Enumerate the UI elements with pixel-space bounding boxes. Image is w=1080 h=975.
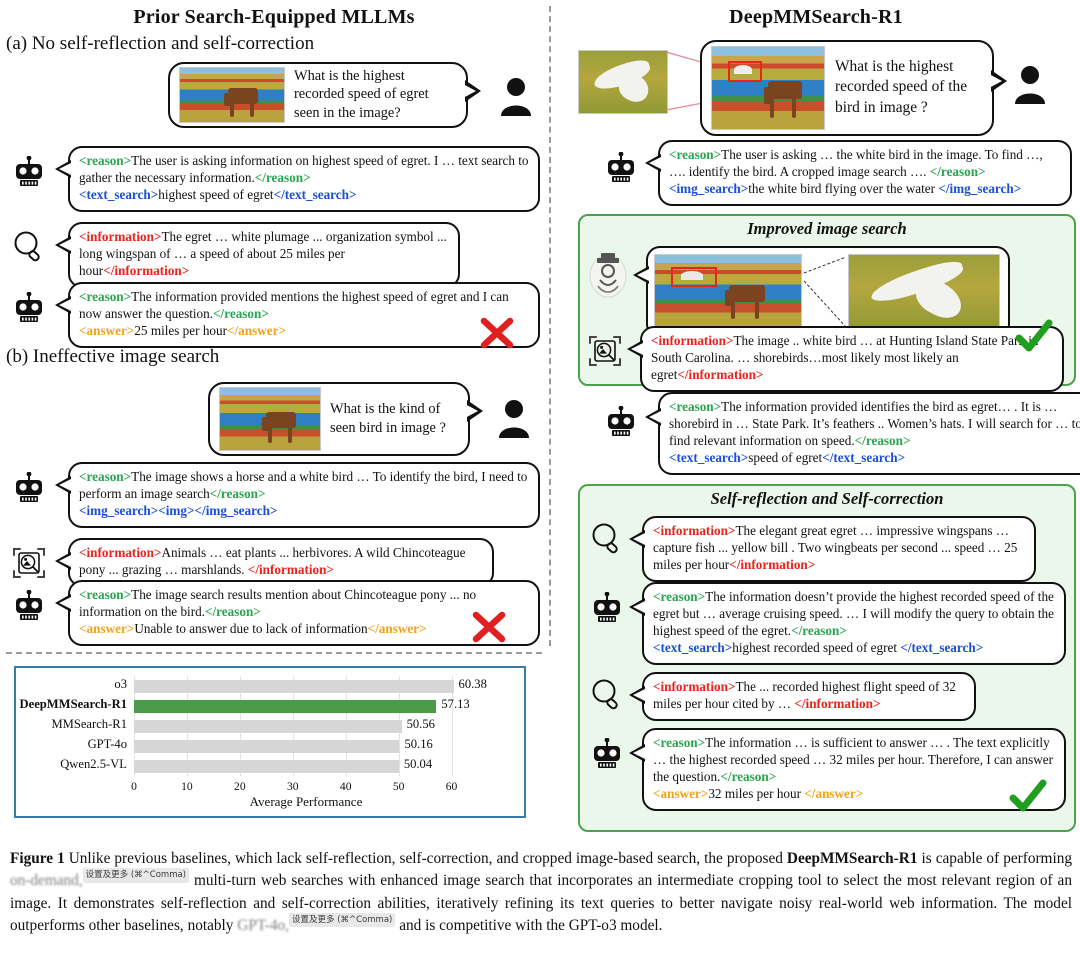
imgsearch-tags: <img_search><img></img_search> [79, 503, 277, 518]
tag-reason-open: <reason> [653, 589, 705, 604]
horizontal-divider [6, 652, 542, 654]
tag-reason-close: </reason> [791, 623, 847, 638]
left-a-user-row: What is the highest recorded speed of eg… [168, 62, 534, 128]
tag-information-close: </information> [103, 263, 189, 278]
tag-reason-close: </reason> [213, 306, 269, 321]
tag-information-close: </information> [677, 367, 763, 382]
source-image-with-crop-box [654, 254, 802, 330]
panel-improved-crop-row [588, 246, 1010, 338]
right-turn-middle-row: <reason>The information provided identif… [604, 392, 1080, 475]
crop-tool-icon [588, 252, 628, 298]
tag-reason-open: <reason> [669, 399, 721, 414]
chart-xtick-label: 30 [287, 780, 299, 793]
bubble-tail-icon [629, 744, 645, 762]
right-turn-first-bubble: <reason>The user is asking … the white b… [658, 140, 1072, 206]
user-question-bubble-b: What is the kind of seen bird in image ? [208, 382, 470, 456]
tag-reason-open: <reason> [79, 587, 131, 602]
tag-information-close: </information> [794, 696, 880, 711]
chart-bar [134, 720, 402, 733]
bubble-tail-icon [465, 80, 481, 102]
robot-icon [590, 738, 624, 772]
tag-reason-close: </reason> [255, 170, 311, 185]
tag-answer-close: </answer> [804, 786, 863, 801]
tag-reason-close: </reason> [210, 486, 266, 501]
zoom-connector-icon [802, 255, 848, 329]
tag-reason-open: <reason> [79, 153, 131, 168]
tag-textsearch-open: <text_search> [669, 450, 748, 465]
caption-part-1: Unlike previous baselines, which lack se… [65, 850, 787, 867]
chart-bar [134, 700, 436, 713]
tag-answer-open: <answer> [79, 323, 134, 338]
tag-answer-open: <answer> [653, 786, 708, 801]
robot-icon [590, 592, 624, 626]
caption-occluded-2: GPT-4o, [237, 915, 289, 937]
tag-reason-open: <reason> [79, 469, 131, 484]
reason-text: The information … is sufficient to answe… [653, 735, 1053, 784]
answer-text: 25 miles per hour [134, 323, 227, 338]
chart-bar-row: Qwen2.5-VL50.04 [134, 760, 478, 773]
marsh-horse-photo-annotated [711, 46, 825, 130]
bubble-tail-icon [55, 296, 71, 314]
panel-improved-image-search: Improved image search [578, 214, 1076, 386]
chart-bar [134, 680, 454, 693]
figure-1: Prior Search-Equipped MLLMs (a) No self-… [0, 0, 1080, 975]
left-a-turn-2-row: <information>The egret … white plumage .… [12, 222, 460, 288]
tag-imgsearch-close: </img_search> [938, 181, 1021, 196]
chart-bar-row: MMSearch-R150.56 [134, 720, 478, 733]
tag-textsearch-open: <text_search> [653, 640, 732, 655]
tag-answer-close: </answer> [368, 621, 427, 636]
user-avatar-icon [498, 76, 534, 116]
user-question-text-b: What is the kind of seen bird in image ? [330, 400, 459, 436]
left-b-turn-1-row: <reason>The image shows a horse and a wh… [12, 462, 540, 528]
left-b-turn-1-bubble: <reason>The image shows a horse and a wh… [68, 462, 540, 528]
bubble-tail-icon [629, 686, 645, 704]
chart-xtick-label: 40 [340, 780, 352, 793]
tag-reason-close: </reason> [720, 769, 776, 784]
tag-reason-open: <reason> [79, 289, 131, 304]
reflect-turn-1-row: <information>The elegant great egret … i… [590, 516, 1036, 582]
image-search-icon [12, 546, 46, 580]
tag-reason-close: </reason> [930, 164, 986, 179]
bubble-tail-icon [645, 408, 661, 426]
chart-value-label: 57.13 [441, 697, 469, 712]
user-question-bubble-right: What is the highest recorded speed of th… [700, 40, 994, 136]
reflect-turn-3-bubble: <information>The ... recorded highest fl… [642, 672, 976, 721]
answer-text: 32 miles per hour [708, 786, 804, 801]
bubble-tail-icon [991, 70, 1007, 92]
chart-category-label: DeepMMSearch-R1 [20, 697, 127, 712]
chart-bar-row: o360.38 [134, 680, 478, 693]
tag-imgsearch-open: <img_search> [669, 181, 748, 196]
tag-information-open: <information> [651, 333, 733, 348]
section-b-heading: (b) Ineffective image search [6, 346, 219, 368]
caption-part-2: is capable of performing [917, 850, 1072, 867]
chart-xtick-label: 50 [393, 780, 405, 793]
right-turn-first-row: <reason>The user is asking … the white b… [604, 140, 1072, 206]
tag-reason-close: </reason> [205, 604, 261, 619]
reason-text: The user is asking … the white bird in t… [669, 147, 1043, 179]
bubble-tail-icon [467, 400, 483, 422]
reflect-turn-4-row: <reason>The information … is sufficient … [590, 728, 1066, 811]
chart-bar [134, 740, 399, 753]
reflect-turn-2-bubble: <reason>The information doesn’t provide … [642, 582, 1066, 665]
correct-check-icon [1014, 318, 1054, 361]
robot-icon [604, 152, 638, 186]
tag-textsearch-close: </text_search> [822, 450, 905, 465]
tag-information-open: <information> [79, 545, 161, 560]
left-b-turn-3-row: <reason>The image search results mention… [12, 580, 540, 646]
marsh-horse-photo [179, 67, 285, 123]
image-search-icon [588, 334, 622, 368]
tag-answer-close: </answer> [227, 323, 286, 338]
chart-category-label: Qwen2.5-VL [60, 757, 127, 772]
marsh-horse-photo [219, 387, 321, 451]
chart-category-label: o3 [114, 677, 127, 692]
tag-information-close: </information> [248, 562, 334, 577]
panel-improved-info-row: <information>The image .. white bird … a… [588, 326, 1064, 392]
chart-bar-row: DeepMMSearch-R157.13 [134, 700, 478, 713]
tag-textsearch-close: </text_search> [900, 640, 983, 655]
bubble-tail-icon [629, 598, 645, 616]
tag-information-close: </information> [729, 557, 815, 572]
caption-label: Figure 1 [10, 850, 65, 867]
chart-value-label: 60.38 [459, 677, 487, 692]
panel-reflect-title: Self-reflection and Self-correction [580, 486, 1074, 509]
bubble-tail-icon [55, 476, 71, 494]
reflect-turn-2-row: <reason>The information doesn’t provide … [590, 582, 1066, 665]
incorrect-cross-icon [470, 608, 508, 651]
robot-icon [12, 156, 46, 190]
textsearch-query: highest speed of egret [158, 187, 273, 202]
magnifier-icon [590, 522, 624, 556]
panel-self-reflection: Self-reflection and Self-correction <inf… [578, 484, 1076, 832]
chart-plot-area: 0102030405060o360.38DeepMMSearch-R157.13… [134, 676, 478, 776]
bubble-tail-icon [55, 552, 71, 570]
chart-bar-row: GPT-4o50.16 [134, 740, 478, 753]
incorrect-cross-icon [478, 314, 516, 357]
tag-textsearch-close: </text_search> [274, 187, 357, 202]
textsearch-query: highest recorded speed of egret [732, 640, 900, 655]
figure-caption: Figure 1 Unlike previous baselines, whic… [10, 848, 1072, 937]
panel-improved-title: Improved image search [580, 216, 1074, 239]
section-a-heading: (a) No self-reflection and self-correcti… [6, 33, 548, 55]
chart-bar [134, 760, 399, 773]
caption-occluded-1: on-demand, [10, 870, 83, 892]
reason-text: The information provided mentions the hi… [79, 289, 509, 321]
answer-text: Unable to answer due to lack of informat… [134, 621, 367, 636]
left-a-turn-3-row: <reason>The information provided mention… [12, 282, 540, 348]
bubble-tail-icon [633, 266, 649, 284]
vertical-divider [549, 6, 551, 646]
panel-improved-info-bubble: <information>The image .. white bird … a… [640, 326, 1064, 392]
left-column-title: Prior Search-Equipped MLLMs [0, 6, 548, 29]
tag-reason-open: <reason> [669, 147, 721, 162]
user-question-text-right: What is the highest recorded speed of th… [835, 57, 983, 117]
user-question-text-a: What is the highest recorded speed of eg… [294, 67, 457, 121]
bubble-tail-icon [55, 594, 71, 612]
tag-reason-close: </reason> [855, 433, 911, 448]
reflect-turn-4-bubble: <reason>The information … is sufficient … [642, 728, 1066, 811]
chart-xaxis-label: Average Performance [134, 794, 478, 810]
tag-reason-open: <reason> [653, 735, 705, 750]
left-a-turn-1-row: <reason>The user is asking information o… [12, 146, 540, 212]
left-a-turn-2-bubble: <information>The egret … white plumage .… [68, 222, 460, 288]
chart-category-label: GPT-4o [88, 737, 127, 752]
chart-xtick-label: 0 [131, 780, 137, 793]
right-column-title: DeepMMSearch-R1 [552, 6, 1080, 29]
bubble-tail-icon [627, 340, 643, 358]
robot-icon [12, 292, 46, 326]
tag-answer-open: <answer> [79, 621, 134, 636]
chart-value-label: 50.56 [407, 717, 435, 732]
chart-value-label: 50.16 [404, 737, 432, 752]
bubble-tail-icon [55, 160, 71, 178]
left-a-turn-3-bubble: <reason>The information provided mention… [68, 282, 540, 348]
reflect-turn-3-row: <information>The ... recorded highest fl… [590, 672, 976, 721]
chart-category-label: MMSearch-R1 [51, 717, 127, 732]
user-avatar-icon [1012, 64, 1048, 104]
panel-improved-crop-bubble [646, 246, 1010, 338]
robot-icon [604, 406, 638, 440]
bubble-tail-icon [645, 154, 661, 172]
magnifier-icon [590, 678, 624, 712]
tag-textsearch-open: <text_search> [79, 187, 158, 202]
caption-part-4: and is competitive with the GPT-o3 model… [395, 917, 662, 934]
reason-text: The image search results mention about C… [79, 587, 476, 619]
robot-icon [12, 472, 46, 506]
robot-icon [12, 590, 46, 624]
tag-information-open: <information> [79, 229, 161, 244]
correct-check-icon [1008, 778, 1048, 821]
chart-value-label: 50.04 [404, 757, 432, 772]
performance-chart: 0102030405060o360.38DeepMMSearch-R157.13… [14, 666, 526, 818]
tag-information-open: <information> [653, 523, 735, 538]
textsearch-query: speed of egret [748, 450, 822, 465]
imgsearch-query: the white bird flying over the water [748, 181, 938, 196]
bubble-tail-icon [629, 530, 645, 548]
magnifier-icon [12, 230, 46, 264]
left-b-user-row: What is the kind of seen bird in image ? [208, 382, 532, 456]
left-a-turn-1-bubble: <reason>The user is asking information o… [68, 146, 540, 212]
right-turn-middle-bubble: <reason>The information provided identif… [658, 392, 1080, 475]
right-user-row: What is the highest recorded speed of th… [700, 40, 1048, 136]
chart-xtick-label: 60 [446, 780, 458, 793]
user-avatar-icon [496, 398, 532, 438]
reason-text: The image shows a horse and a white bird… [79, 469, 527, 501]
caption-bold-model: DeepMMSearch-R1 [787, 850, 918, 867]
reason-text: The information doesn’t provide the high… [653, 589, 1054, 638]
tag-information-open: <information> [653, 679, 735, 694]
cropped-bird-thumbnail [578, 50, 668, 114]
user-question-bubble-a: What is the highest recorded speed of eg… [168, 62, 468, 128]
reflect-turn-1-bubble: <information>The elegant great egret … i… [642, 516, 1036, 582]
chart-xtick-label: 20 [234, 780, 246, 793]
cropped-bird-result [848, 254, 1000, 330]
tooltip-settings-and-more-2: 设置及更多 (⌘^Comma) [289, 913, 395, 927]
bubble-tail-icon [55, 236, 71, 254]
chart-xtick-label: 10 [181, 780, 193, 793]
tooltip-settings-and-more-1: 设置及更多 (⌘^Comma) [83, 868, 189, 882]
